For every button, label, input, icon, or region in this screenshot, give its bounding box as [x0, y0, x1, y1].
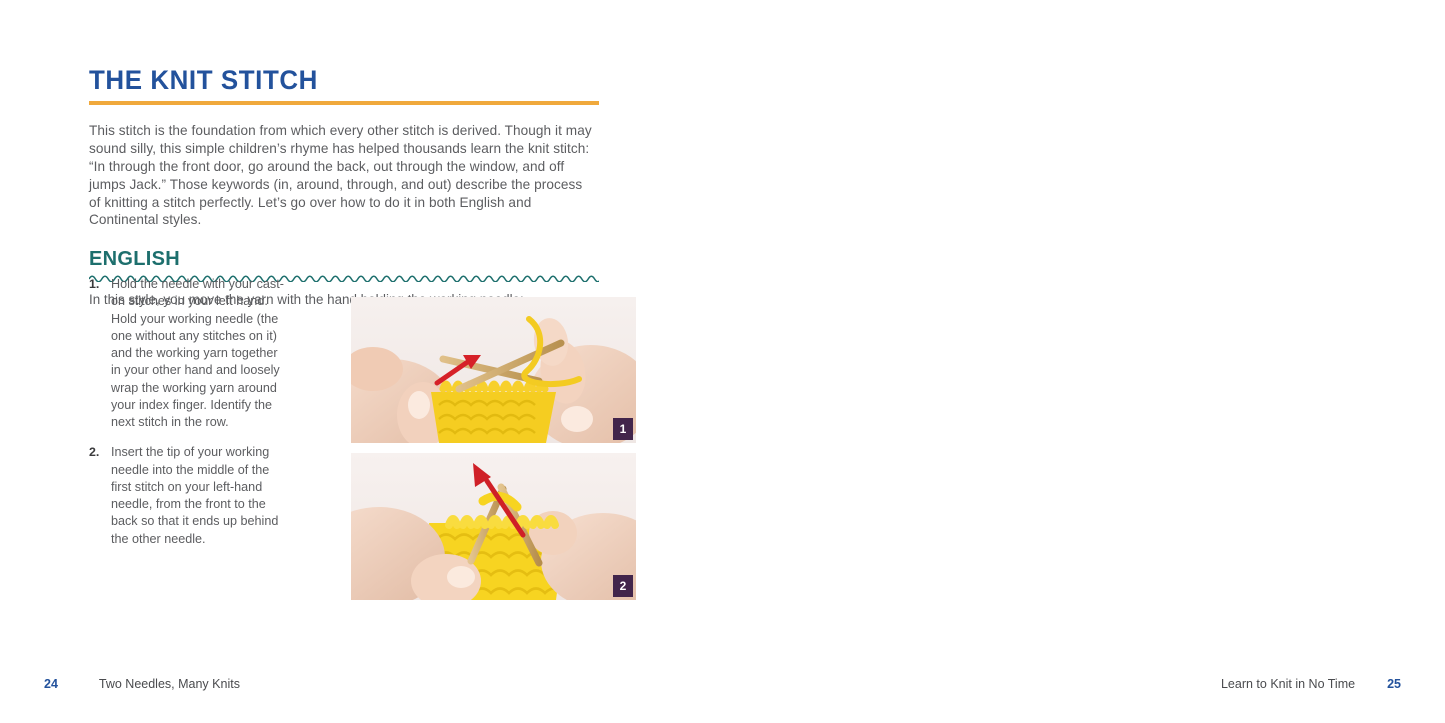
knitting-photo-2 [351, 453, 636, 600]
step-text: Hold the needle with your cast-on stitch… [111, 277, 284, 429]
step-number: 1. [89, 276, 99, 293]
figure-step-2-photo: 2 [351, 453, 636, 600]
footer-right: Learn to Knit in No Time 25 [1221, 677, 1401, 691]
page-title: THE KNIT STITCH [89, 66, 579, 94]
intro-paragraph: This stitch is the foundation from which… [89, 122, 597, 229]
list-item: 2. Insert the tip of your working needle… [89, 444, 289, 548]
page-number: 25 [1387, 677, 1401, 691]
book-spread: THE KNIT STITCH This stitch is the found… [0, 0, 1445, 723]
running-head: Two Needles, Many Knits [99, 677, 240, 691]
figure-step-1-photo: 1 [351, 297, 636, 443]
page-number: 24 [44, 677, 58, 691]
list-item: 1. Hold the needle with your cast-on sti… [89, 276, 289, 431]
figure-badge: 1 [613, 418, 633, 440]
knitting-photo-1 [351, 297, 636, 443]
title-underline-rule [89, 101, 599, 105]
right-page: 3. With your index finger, wrap the work… [722, 0, 1445, 723]
step-number: 2. [89, 444, 99, 461]
left-page-body: THE KNIT STITCH This stitch is the found… [89, 66, 599, 309]
running-head: Learn to Knit in No Time [1221, 677, 1355, 691]
step-text: Insert the tip of your working needle in… [111, 445, 278, 545]
english-steps-list-left: 1. Hold the needle with your cast-on sti… [89, 276, 289, 548]
footer-left: 24 Two Needles, Many Knits [44, 677, 240, 691]
figure-badge: 2 [613, 575, 633, 597]
left-page: THE KNIT STITCH This stitch is the found… [0, 0, 722, 723]
section-subheading: ENGLISH [89, 249, 599, 270]
